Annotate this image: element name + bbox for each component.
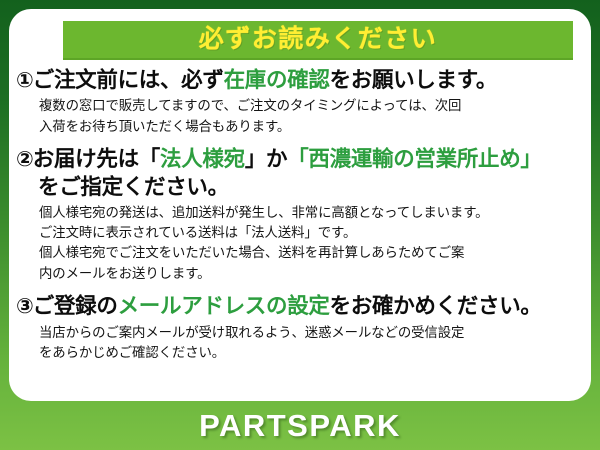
notice-section-1: ①ご注文前には、必ず在庫の確認をお願いします。 複数の窓口で販売してますので、ご…: [16, 67, 585, 137]
section-1-heading-highlight: 在庫の確認: [224, 68, 330, 92]
section-3-heading-part-3: をお確かめください。: [330, 294, 542, 318]
section-2-heading-highlight-2: 「西濃運輸の営業所止め」: [287, 147, 541, 171]
section-1-body-line-1: 複数の窓口で販売してますので、ご注文のタイミングによっては、次回: [39, 96, 585, 116]
section-2-bracket-open: 「: [139, 147, 160, 171]
header-bar: 必ずお読みください: [63, 21, 573, 60]
section-2-body: 個人様宅宛の発送は、追加送料が発生し、非常に高額となってしまいます。 ご注文時に…: [16, 203, 585, 285]
section-2-heading-line-2: をご指定ください。: [16, 174, 585, 201]
section-3-number: ③: [16, 295, 33, 318]
footer: PARTSPARK: [0, 401, 600, 450]
section-2-number: ②: [16, 148, 33, 171]
section-2-body-line-1: 個人様宅宛の発送は、追加送料が発生し、非常に高額となってしまいます。: [39, 203, 585, 223]
section-1-heading-part-1: ご注文前には、必ず: [33, 68, 224, 92]
section-2-heading-conjunction: か: [266, 147, 287, 171]
section-1-body-line-2: 入荷をお待ち頂いただく場合もあります。: [39, 117, 585, 137]
section-3-heading-highlight: メールアドレスの設定: [118, 294, 330, 318]
section-2-heading: ②お届け先は「法人様宛」か「西濃運輸の営業所止め」 をご指定ください。: [16, 146, 585, 201]
section-2-bracket-close: 」: [245, 147, 266, 171]
section-3-heading-part-1: ご登録の: [33, 294, 118, 318]
section-2-heading-highlight-1: 法人様宛: [160, 147, 245, 171]
section-3-heading: ③ご登録のメールアドレスの設定をお確かめください。: [16, 293, 585, 320]
section-1-heading: ①ご注文前には、必ず在庫の確認をお願いします。: [16, 67, 585, 94]
section-1-body: 複数の窓口で販売してますので、ご注文のタイミングによっては、次回 入荷をお待ち頂…: [16, 96, 585, 137]
section-2-heading-part-1: お届け先は: [33, 147, 139, 171]
partspark-logo: PARTSPARK: [199, 408, 401, 444]
section-2-body-line-4: 内のメールをお送りします。: [39, 264, 585, 284]
section-3-body-line-2: をあらかじめご確認ください。: [39, 343, 585, 363]
notice-panel: 必ずお読みください ①ご注文前には、必ず在庫の確認をお願いします。 複数の窓口で…: [9, 9, 591, 401]
notice-section-3: ③ご登録のメールアドレスの設定をお確かめください。 当店からのご案内メールが受け…: [16, 293, 585, 363]
section-3-body-line-1: 当店からのご案内メールが受け取れるよう、迷惑メールなどの受信設定: [39, 323, 585, 343]
notice-sections: ①ご注文前には、必ず在庫の確認をお願いします。 複数の窓口で販売してますので、ご…: [9, 67, 591, 372]
section-1-number: ①: [16, 69, 33, 92]
section-2-body-line-3: 個人様宅宛でご注文をいただいた場合、送料を再計算しあらためてご案: [39, 243, 585, 263]
notice-section-2: ②お届け先は「法人様宛」か「西濃運輸の営業所止め」 をご指定ください。 個人様宅…: [16, 146, 585, 284]
section-1-heading-part-3: をお願いします。: [330, 68, 497, 92]
notice-banner: 必ずお読みください ①ご注文前には、必ず在庫の確認をお願いします。 複数の窓口で…: [0, 0, 600, 450]
section-2-body-line-2: ご注文時に表示されている送料は「法人送料」です。: [39, 223, 585, 243]
section-3-body: 当店からのご案内メールが受け取れるよう、迷惑メールなどの受信設定 をあらかじめご…: [16, 323, 585, 364]
header-title: 必ずお読みください: [199, 27, 438, 52]
